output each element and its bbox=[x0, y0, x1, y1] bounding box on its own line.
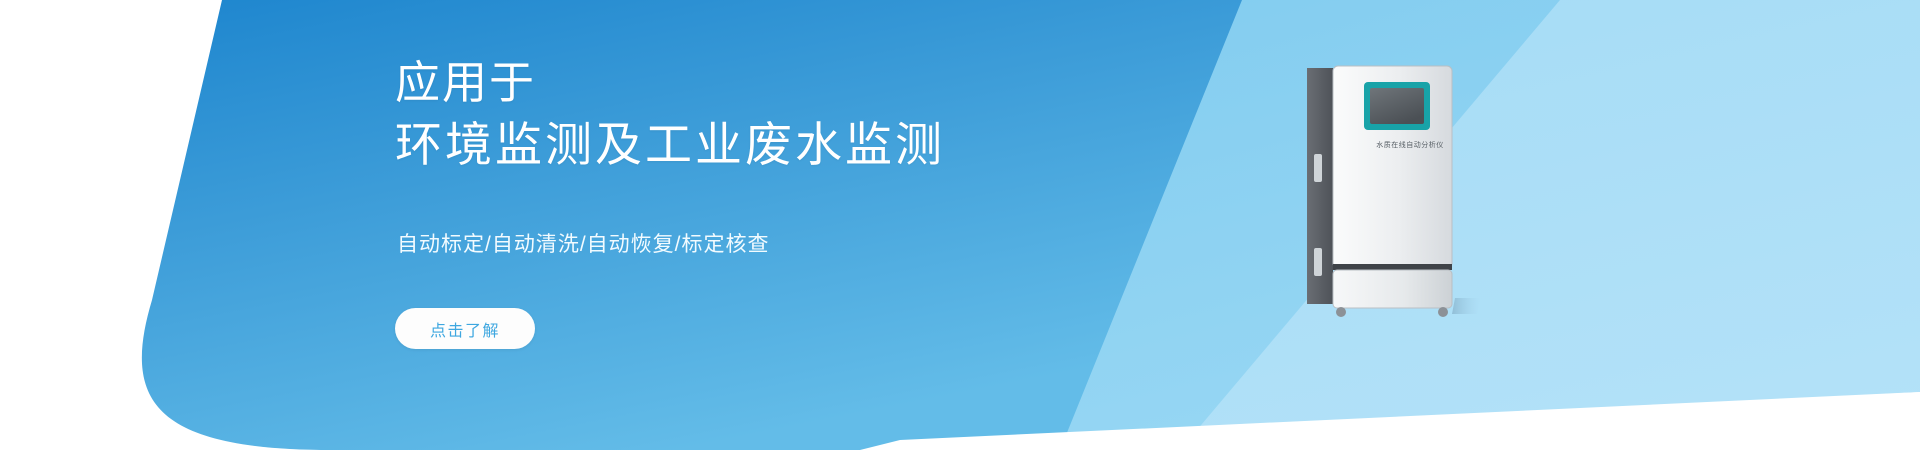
headline-line-1: 应用于 bbox=[395, 52, 945, 114]
device-caster-left bbox=[1336, 307, 1346, 317]
product-image: 水质在线自动分析仪 bbox=[1305, 62, 1480, 320]
device-screen bbox=[1370, 88, 1424, 124]
device-shadow bbox=[1452, 298, 1480, 314]
device-side-handle-upper bbox=[1314, 154, 1322, 182]
device-side-handle-lower bbox=[1314, 248, 1322, 276]
device-section-divider bbox=[1333, 264, 1452, 270]
device-lower-body bbox=[1333, 270, 1452, 308]
page-title: 应用于 环境监测及工业废水监测 bbox=[395, 52, 945, 176]
device-caster-right bbox=[1438, 307, 1448, 317]
water-analyzer-cabinet-icon bbox=[1305, 62, 1480, 320]
hero-banner: 应用于 环境监测及工业废水监测 自动标定/自动清洗/自动恢复/标定核查 点击了解 bbox=[0, 0, 1920, 450]
learn-more-button[interactable]: 点击了解 bbox=[395, 308, 535, 349]
banner-content: 应用于 环境监测及工业废水监测 自动标定/自动清洗/自动恢复/标定核查 点击了解 bbox=[395, 0, 1095, 450]
headline-line-2: 环境监测及工业废水监测 bbox=[395, 114, 945, 176]
banner-subtitle: 自动标定/自动清洗/自动恢复/标定核查 bbox=[397, 228, 770, 258]
